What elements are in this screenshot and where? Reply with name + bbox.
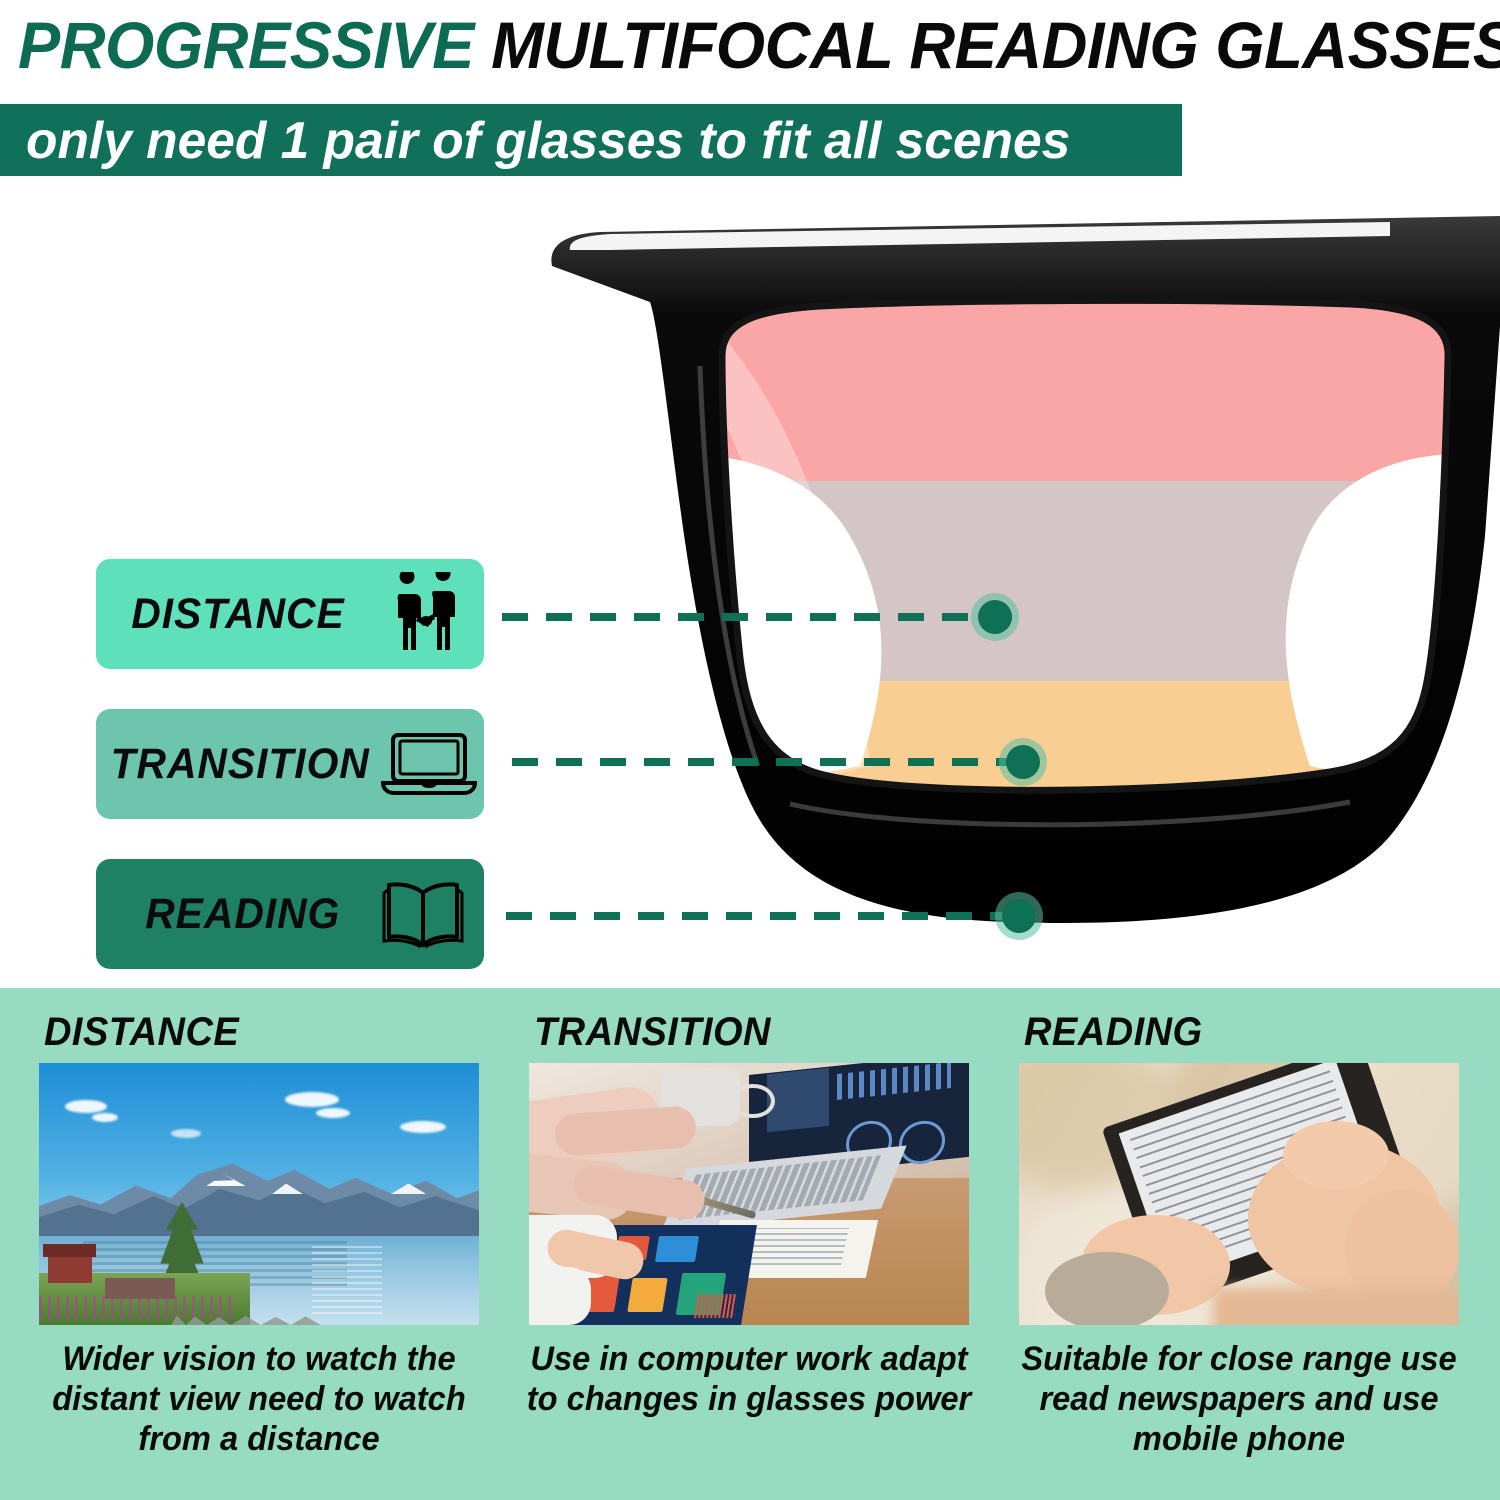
anchor-dot-transition [1006, 745, 1040, 779]
laptop-icon [377, 721, 481, 807]
chip-reading[interactable]: READING [96, 859, 484, 969]
eyeglasses-illustration [490, 206, 1500, 966]
chip-reading-label: READING [103, 890, 373, 939]
computer-desk-photo [529, 1063, 969, 1325]
hand-ereader-photo [1019, 1063, 1459, 1325]
scene-caption-transition: Use in computer work adapt to changes in… [520, 1339, 979, 1419]
connector-transition [512, 758, 1040, 766]
lens-diagram: DISTANCE TRANSITION [0, 186, 1500, 986]
page-title: PROGRESSIVE MULTIFOCAL READING GLASSES [18, 12, 1500, 78]
open-book-icon [380, 871, 466, 957]
page-title-rest: MULTIFOCAL READING GLASSES [491, 8, 1500, 82]
scene-panel-transition: TRANSITION [504, 998, 994, 1490]
connector-reading [506, 912, 1036, 920]
dashed-line [512, 758, 1040, 766]
subtitle-text: only need 1 pair of glasses to fit all s… [26, 113, 1070, 169]
scene-panel-reading: READING [994, 998, 1484, 1490]
dashed-line [502, 613, 1012, 621]
scene-title-transition: TRANSITION [534, 1010, 965, 1055]
scene-caption-reading: Suitable for close range use read newspa… [1010, 1339, 1469, 1459]
anchor-dot-distance [978, 600, 1012, 634]
chip-distance-label: DISTANCE [103, 590, 373, 639]
chip-transition-label: TRANSITION [103, 740, 370, 789]
header: PROGRESSIVE MULTIFOCAL READING GLASSES o… [0, 0, 1500, 185]
scene-panel-distance: DISTANCE [14, 998, 504, 1490]
chip-transition[interactable]: TRANSITION [96, 709, 484, 819]
connector-distance [502, 613, 1012, 621]
page-title-highlight: PROGRESSIVE [18, 8, 491, 82]
dashed-line [506, 912, 1036, 920]
subtitle-banner: only need 1 pair of glasses to fit all s… [0, 104, 1182, 176]
handshake-icon [380, 571, 466, 657]
chip-distance[interactable]: DISTANCE [96, 559, 484, 669]
scenes-panel: DISTANCE [0, 988, 1500, 1500]
scene-title-reading: READING [1024, 1010, 1455, 1055]
scene-title-distance: DISTANCE [44, 1010, 475, 1055]
anchor-dot-reading [1002, 899, 1036, 933]
scene-caption-distance: Wider vision to watch the distant view n… [30, 1339, 489, 1459]
mountain-lake-photo [39, 1063, 479, 1325]
